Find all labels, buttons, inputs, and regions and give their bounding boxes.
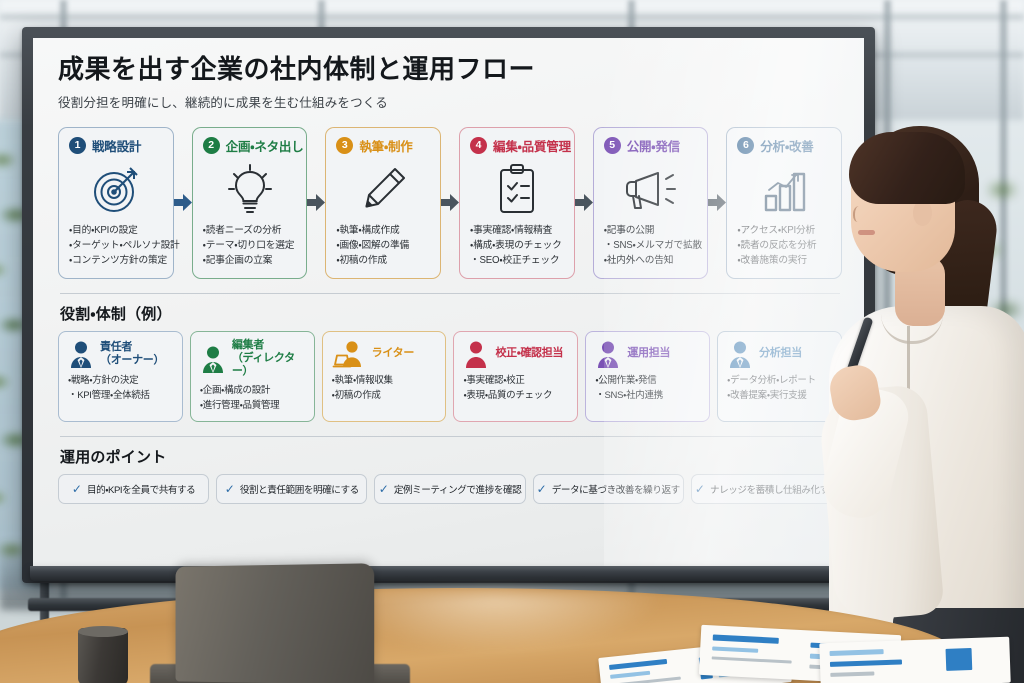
step-title: 公開・発信: [627, 136, 680, 155]
list-item: 初稿の作成: [332, 388, 438, 403]
list-item: ターゲット・ペルソナ設計: [69, 238, 164, 253]
list-item: SEO・校正チェック: [470, 253, 565, 268]
role-item-list: 戦略・方針の決定 KPI管理・全体続括: [68, 373, 174, 404]
role-title: 責任者（オーナー）: [100, 341, 164, 367]
check-icon: ✓: [225, 483, 235, 495]
list-item: 公開作業・発信: [595, 373, 701, 388]
whiteboard-marker-tray: [30, 566, 875, 581]
step-item-list: 読者ニーズの分析 テーマ・切り口を選定 記事企画の立案: [203, 223, 298, 268]
step-number-badge: 5: [604, 137, 621, 154]
list-item: コンテンツ方針の策定: [69, 253, 164, 268]
flow-arrow-3: [441, 127, 459, 279]
list-item: 初稿の作成: [336, 253, 431, 268]
point-label: 定例ミーティングで進捗を確認: [394, 482, 521, 496]
step-number-badge: 2: [203, 137, 220, 154]
flow-step-header: 1 戦略設計: [69, 136, 164, 155]
list-item: 企画・構成の設計: [200, 383, 306, 398]
check-icon: ✓: [537, 483, 547, 495]
list-item: SNS・社内連携: [595, 388, 701, 403]
person-laptop-icon: [332, 340, 366, 368]
flow-step-header: 4 編集・品質管理: [470, 136, 565, 155]
section-divider: [60, 293, 840, 294]
points-grid: ✓ 目的・KPIを全員で共有する ✓ 役割と責任範囲を明確にする ✓ 定例ミーテ…: [58, 474, 842, 504]
point-label: 役割と責任範囲を明確にする: [240, 482, 359, 496]
lightbulb-icon: [203, 159, 298, 221]
person-suit-icon: [200, 345, 226, 373]
nose: [853, 206, 865, 222]
role-header: 責任者（オーナー）: [68, 339, 174, 369]
list-item: SNS・メルマガで拡散: [604, 238, 699, 253]
person-suit-icon: [595, 340, 621, 368]
list-item: 目的・KPIの設定: [69, 223, 164, 238]
role-title: ライター: [372, 347, 414, 360]
list-item: テーマ・切り口を選定: [203, 238, 298, 253]
lips: [858, 230, 875, 235]
laptop-screen: [176, 563, 375, 683]
roles-section-heading: 役割・体制（例）: [60, 303, 842, 324]
clipboard-check-icon: [470, 159, 565, 221]
whiteboard-surface: 成果を出す企業の社内体制と運用フロー 役割分担を明確にし、継続的に成果を生む仕組…: [33, 38, 864, 566]
role-header: 運用担当: [595, 339, 701, 369]
step-title: 戦略設計: [92, 136, 141, 155]
target-icon: [69, 159, 164, 221]
flow-arrow-2: [307, 127, 325, 279]
flow-step-header: 5 公開・発信: [604, 136, 699, 155]
office-scene: 成果を出す企業の社内体制と運用フロー 役割分担を明確にし、継続的に成果を生む仕組…: [0, 0, 1024, 683]
list-item: KPI管理・全体続括: [68, 388, 174, 403]
mug-rim: [78, 626, 128, 637]
list-item: 事実確認・情報精査: [470, 223, 565, 238]
list-item: 執筆・情報収集: [332, 373, 438, 388]
list-item: 社内外への告知: [604, 253, 699, 268]
role-header: ライター: [332, 339, 438, 369]
flow-step-4[interactable]: 4 編集・品質管理 事実確認・情: [459, 127, 575, 279]
role-item-list: 企画・構成の設計 進行管理・品質管理: [200, 383, 306, 414]
document-paper: [819, 637, 1010, 683]
list-item: 構成・表現のチェック: [470, 238, 565, 253]
person-plain-icon: [463, 340, 489, 368]
role-card-editor[interactable]: 編集者（ディレクター） 企画・構成の設計 進行管理・品質管理: [190, 331, 315, 422]
role-title: 編集者（ディレクター）: [232, 339, 306, 379]
point-label: 目的・KPIを全員で共有する: [87, 482, 195, 496]
flow-step-1[interactable]: 1 戦略設計 目的・KPIの設定 ター: [58, 127, 174, 279]
point-card[interactable]: ✓ 役割と責任範囲を明確にする: [216, 474, 367, 504]
role-header: 校正・確認担当: [463, 339, 569, 369]
check-icon: ✓: [72, 483, 82, 495]
check-icon: ✓: [695, 483, 705, 495]
list-item: 読者ニーズの分析: [203, 223, 298, 238]
ceiling-beam: [0, 14, 1024, 20]
step-item-list: 目的・KPIの設定 ターゲット・ペルソナ設計 コンテンツ方針の策定: [69, 223, 164, 268]
flow-step-header: 3 執筆・制作: [336, 136, 431, 155]
step-item-list: 記事の公開 SNS・メルマガで拡散 社内外への告知: [604, 223, 699, 268]
step-title: 執筆・制作: [359, 136, 412, 155]
flow-diagram: 1 戦略設計 目的・KPIの設定 ター: [58, 127, 842, 279]
role-header: 編集者（ディレクター）: [200, 339, 306, 379]
role-item-list: 執筆・情報収集 初稿の作成: [332, 373, 438, 404]
flow-step-5[interactable]: 5 公開・発信 記事の公開 SNS・メルマガで拡散: [593, 127, 709, 279]
step-title: 分析・改善: [760, 136, 813, 155]
role-card-proofreader[interactable]: 校正・確認担当 事実確認・校正 表現・品質のチェック: [453, 331, 578, 422]
list-item: 画像・図解の準備: [336, 238, 431, 253]
point-label: データに基づき改善を繰り返す: [552, 482, 680, 496]
list-item: 執筆・構成作成: [336, 223, 431, 238]
step-title: 企画・ネタ出し: [226, 136, 304, 155]
section-divider: [60, 436, 840, 437]
list-item: 進行管理・品質管理: [200, 398, 306, 413]
board-content: 成果を出す企業の社内体制と運用フロー 役割分担を明確にし、継続的に成果を生む仕組…: [33, 38, 864, 566]
table-reflection: [330, 592, 660, 652]
list-item: 戦略・方針の決定: [68, 373, 174, 388]
hair-front: [849, 132, 965, 204]
pencil-icon: [336, 159, 431, 221]
flow-arrow-1: [174, 127, 192, 279]
step-number-badge: 3: [336, 137, 353, 154]
flow-step-3[interactable]: 3 執筆・制作 執筆・構成作成 画像・図解の準備 初稿の作成: [325, 127, 441, 279]
role-card-operations[interactable]: 運用担当 公開作業・発信 SNS・社内連携: [585, 331, 710, 422]
megaphone-icon: [604, 159, 699, 221]
page-title: 成果を出す企業の社内体制と運用フロー: [58, 55, 842, 85]
step-item-list: 事実確認・情報精査 構成・表現のチェック SEO・校正チェック: [470, 223, 565, 268]
roles-grid: 責任者（オーナー） 戦略・方針の決定 KPI管理・全体続括: [58, 331, 842, 422]
list-item: 記事企画の立案: [203, 253, 298, 268]
check-icon: ✓: [379, 483, 389, 495]
role-card-writer[interactable]: ライター 執筆・情報収集 初稿の作成: [322, 331, 447, 422]
role-title: 校正・確認担当: [495, 347, 563, 360]
step-number-badge: 4: [470, 137, 487, 154]
role-item-list: 事実確認・校正 表現・品質のチェック: [463, 373, 569, 404]
person-suit-icon: [727, 340, 753, 368]
flow-step-header: 2 企画・ネタ出し: [203, 136, 298, 155]
list-item: 事実確認・校正: [463, 373, 569, 388]
person-suit-icon: [68, 340, 94, 368]
step-title: 編集・品質管理: [493, 136, 571, 155]
role-title: 運用担当: [627, 347, 670, 360]
role-card-owner[interactable]: 責任者（オーナー） 戦略・方針の決定 KPI管理・全体続括: [58, 331, 183, 422]
flow-arrow-4: [575, 127, 593, 279]
list-item: 記事の公開: [604, 223, 699, 238]
flow-step-2[interactable]: 2 企画・ネタ出し 読者ニーズの分析 テーマ・切り口を選定 記事企画の立案: [192, 127, 308, 279]
flow-arrow-5: [708, 127, 726, 279]
list-item: 表現・品質のチェック: [463, 388, 569, 403]
step-number-badge: 1: [69, 137, 86, 154]
point-card[interactable]: ✓ 定例ミーティングで進捗を確認: [374, 474, 525, 504]
page-subtitle: 役割分担を明確にし、継続的に成果を生む仕組みをつくる: [58, 92, 842, 111]
presenter-person: [809, 88, 1024, 683]
points-section-heading: 運用のポイント: [60, 446, 842, 467]
role-title: 分析担当: [759, 347, 802, 360]
role-item-list: 公開作業・発信 SNS・社内連携: [595, 373, 701, 404]
point-card[interactable]: ✓ 目的・KPIを全員で共有する: [58, 474, 209, 504]
point-card[interactable]: ✓ データに基づき改善を繰り返す: [533, 474, 684, 504]
step-number-badge: 6: [737, 137, 754, 154]
step-item-list: 執筆・構成作成 画像・図解の準備 初稿の作成: [336, 223, 431, 268]
